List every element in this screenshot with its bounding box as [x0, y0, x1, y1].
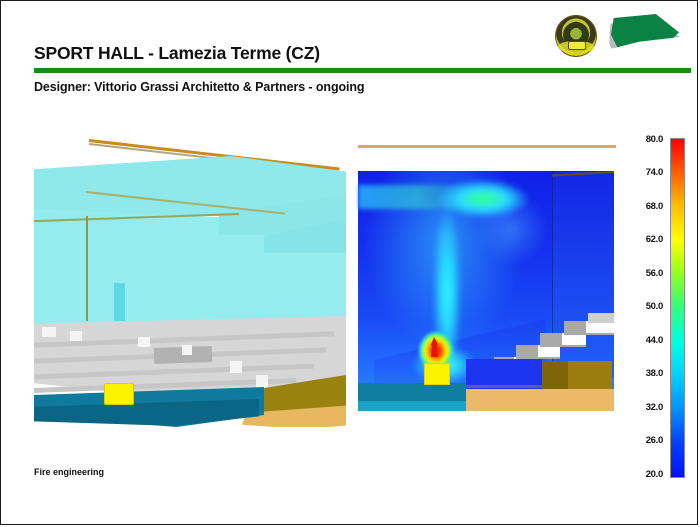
temperature-contour-view	[356, 133, 618, 427]
colorbar-tick-4: 56.0	[633, 268, 663, 279]
gold-floor-panel	[466, 389, 614, 411]
ceiling-edge-line	[358, 145, 616, 148]
green-wing-logo-icon	[609, 13, 683, 59]
slide: SPORT HALL - Lamezia Terme (CZ) Designer…	[0, 0, 698, 525]
seat-highlight	[70, 331, 82, 341]
seat-highlight	[256, 375, 268, 389]
colorbar-tick-2: 68.0	[633, 201, 663, 212]
colorbar-tick-5: 50.0	[633, 301, 663, 312]
colorbar-tick-3: 62.0	[633, 234, 663, 245]
colorbar-tick-1: 74.0	[633, 167, 663, 178]
fire-source-box	[424, 363, 450, 385]
volume-edge-vertical	[86, 216, 88, 321]
seat-highlight	[182, 345, 192, 355]
colorbar-tick-10: 20.0	[633, 469, 663, 480]
temperature-colour-scale	[670, 138, 685, 478]
fire-source-box	[104, 383, 134, 405]
air-column	[114, 283, 125, 321]
slide-footnote: Fire engineering	[34, 467, 104, 477]
page-title: SPORT HALL - Lamezia Terme (CZ)	[34, 43, 320, 64]
colorbar-tick-9: 26.0	[633, 435, 663, 446]
colorbar-tick-6: 44.0	[633, 335, 663, 346]
under-stair-edge	[466, 385, 542, 388]
arena-floor-edge	[358, 401, 466, 411]
certification-seal-logo-icon	[555, 15, 597, 57]
logo-row	[547, 13, 687, 59]
geometry-3d-view	[34, 131, 346, 427]
seat-highlight	[230, 361, 242, 373]
seal-plate-icon	[568, 41, 586, 50]
title-divider	[34, 68, 691, 73]
gold-wall-panel-dark	[542, 361, 568, 391]
colorbar-tick-8: 32.0	[633, 402, 663, 413]
seat-highlight	[42, 327, 56, 337]
page-subtitle: Designer: Vittorio Grassi Architetto & P…	[34, 80, 364, 94]
seat-highlight	[138, 337, 150, 347]
stair-landing	[588, 313, 614, 323]
colorbar-tick-7: 38.0	[633, 368, 663, 379]
colorbar-tick-0: 80.0	[633, 134, 663, 145]
